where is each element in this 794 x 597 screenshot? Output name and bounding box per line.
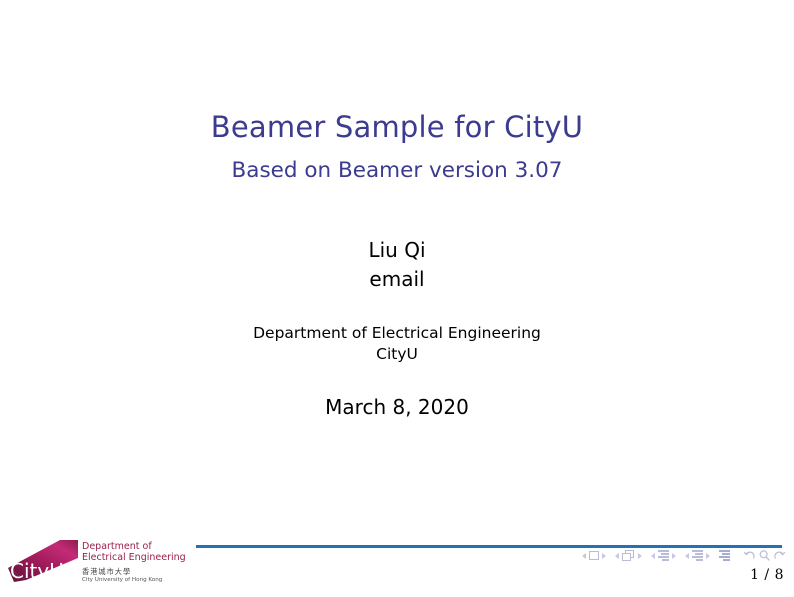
- frame-icon[interactable]: [622, 550, 635, 561]
- search-icon[interactable]: [758, 549, 771, 562]
- institute-block: Department of Electrical Engineering Cit…: [0, 323, 794, 365]
- slide-title: Beamer Sample for CityU: [0, 112, 794, 144]
- next-subsection-icon[interactable]: [672, 553, 676, 559]
- next-frame-icon[interactable]: [638, 553, 642, 559]
- presentation-slide: Beamer Sample for CityU Based on Beamer …: [0, 0, 794, 597]
- svg-text:CityU: CityU: [10, 559, 64, 583]
- author-block: Liu Qi email: [0, 236, 794, 294]
- footline-rule: [196, 545, 782, 548]
- section-navigation[interactable]: [685, 550, 710, 561]
- prev-section-icon[interactable]: [685, 553, 689, 559]
- footline: CityU Department of Electrical Engineeri…: [0, 535, 794, 597]
- presentation-navigation[interactable]: [719, 550, 730, 561]
- subsection-navigation[interactable]: [651, 550, 676, 561]
- section-icon[interactable]: [692, 550, 703, 561]
- author-name: Liu Qi: [0, 236, 794, 265]
- subsection-icon[interactable]: [658, 550, 669, 561]
- logo-university-english: City University of Hong Kong: [82, 577, 192, 584]
- slide-icon[interactable]: [589, 551, 599, 560]
- prev-frame-icon[interactable]: [615, 553, 619, 559]
- prev-slide-icon[interactable]: [582, 553, 586, 559]
- title-block: Beamer Sample for CityU Based on Beamer …: [0, 112, 794, 183]
- logo-department-line2: Electrical Engineering: [82, 552, 192, 563]
- forward-icon[interactable]: [773, 549, 786, 562]
- institute-department: Department of Electrical Engineering: [0, 323, 794, 344]
- page-number: 1 / 8: [750, 567, 784, 583]
- next-slide-icon[interactable]: [602, 553, 606, 559]
- slide-navigation[interactable]: [582, 551, 606, 560]
- beamer-navigation-symbols[interactable]: [582, 549, 786, 562]
- logo-department-line1: Department of: [82, 541, 192, 552]
- cityu-logo-text: Department of Electrical Engineering 香港城…: [82, 541, 192, 584]
- slide-subtitle: Based on Beamer version 3.07: [0, 159, 794, 183]
- frame-navigation[interactable]: [615, 550, 642, 561]
- logo-university-chinese: 香港城市大學: [82, 567, 192, 577]
- presentation-icon[interactable]: [719, 550, 730, 561]
- institute-university: CityU: [0, 344, 794, 365]
- document-navigation[interactable]: [743, 549, 786, 562]
- slide-date: March 8, 2020: [0, 395, 794, 419]
- date-block: March 8, 2020: [0, 395, 794, 419]
- prev-subsection-icon[interactable]: [651, 553, 655, 559]
- cityu-logo-mark: CityU: [6, 538, 80, 586]
- author-email: email: [0, 265, 794, 294]
- back-icon[interactable]: [743, 549, 756, 562]
- cityu-logo-svg: CityU: [6, 538, 80, 586]
- cityu-logo: CityU Department of Electrical Engineeri…: [6, 538, 192, 594]
- next-section-icon[interactable]: [706, 553, 710, 559]
